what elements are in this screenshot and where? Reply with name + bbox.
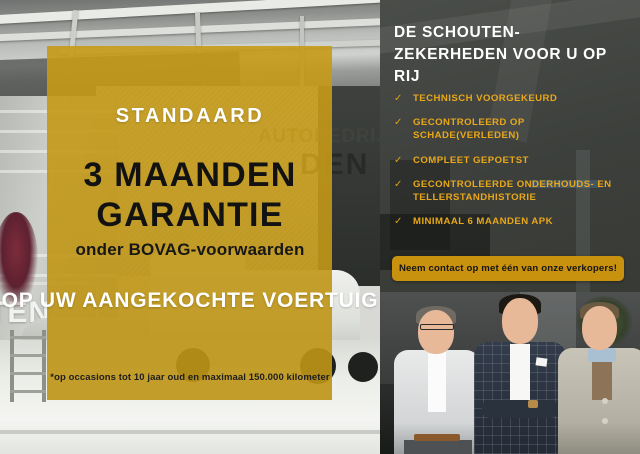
right-panel-benefits: DE SCHOUTEN-ZEKERHEDEN VOOR U OP RIJ ✓ T…	[380, 0, 640, 454]
wristwatch-icon	[528, 400, 538, 408]
salesperson-center	[474, 296, 566, 454]
checklist-item: ✓ TECHNISCH VOORGEKEURD	[394, 92, 632, 105]
left-panel-garage-photo: TEN AUTOBEDRIJF DEN STANDAARD	[0, 0, 380, 454]
checklist-item-label: COMPLEET GEPOETST	[413, 155, 529, 166]
salesperson-face	[582, 306, 617, 350]
benefits-checklist: ✓ TECHNISCH VOORGEKEURD ✓ GECONTROLEERD …	[394, 92, 632, 240]
advertisement-banner: TEN AUTOBEDRIJF DEN STANDAARD	[0, 0, 640, 454]
pocket-square	[535, 357, 547, 366]
check-icon: ✓	[394, 215, 403, 229]
salesperson-right	[558, 302, 640, 454]
checklist-item-label: GECONTROLEERD OP SCHADE(VERLEDEN)	[413, 117, 525, 141]
checklist-item-label: GECONTROLEERDE ONDERHOUDS- EN TELLERSTAN…	[413, 179, 612, 203]
salesperson-left	[394, 306, 480, 454]
salesperson-trousers	[404, 440, 472, 454]
salesperson-face	[502, 298, 538, 344]
headline-line-1: 3 MAANDEN	[0, 158, 380, 193]
coat-button	[602, 418, 608, 424]
subheadline-text: onder BOVAG-voorwaarden	[0, 240, 380, 260]
sales-team-photo	[380, 292, 640, 454]
coat-button	[602, 398, 608, 404]
salesperson-placket	[428, 352, 446, 412]
check-icon: ✓	[394, 154, 403, 168]
checklist-item-label: MINIMAAL 6 MAANDEN APK	[413, 216, 553, 227]
headline-line-2: GARANTIE	[0, 196, 380, 235]
salesperson-collar	[588, 348, 616, 362]
eyebrow-text: STANDAARD	[0, 105, 380, 128]
salesperson-shirt	[510, 344, 530, 402]
salesperson-crossed-arms	[482, 400, 558, 418]
check-icon: ✓	[394, 116, 403, 130]
check-icon: ✓	[394, 92, 403, 106]
tagline-text: OP UW AANGEKOCHTE VOERTUIG	[0, 288, 380, 315]
left-text-block: STANDAARD 3 MAANDEN GARANTIE onder BOVAG…	[0, 0, 380, 454]
checklist-item: ✓ GECONTROLEERDE ONDERHOUDS- EN TELLERST…	[394, 178, 632, 204]
checklist-item: ✓ MINIMAAL 6 MAANDEN APK	[394, 215, 632, 228]
checklist-item: ✓ GECONTROLEERD OP SCHADE(VERLEDEN)	[394, 116, 632, 142]
salesperson-belt	[414, 434, 460, 441]
checklist-item: ✓ COMPLEET GEPOETST	[394, 154, 632, 167]
footnote-text: *op occasions tot 10 jaar oud en maximaa…	[0, 372, 380, 383]
check-icon: ✓	[394, 178, 403, 192]
right-panel-heading: DE SCHOUTEN-ZEKERHEDEN VOOR U OP RIJ	[394, 22, 630, 88]
checklist-item-label: TECHNISCH VOORGEKEURD	[413, 93, 557, 104]
contact-sales-cta-button[interactable]: Neem contact op met één van onze verkope…	[392, 256, 624, 281]
salesperson-face	[418, 310, 454, 354]
glasses-icon	[420, 324, 454, 330]
